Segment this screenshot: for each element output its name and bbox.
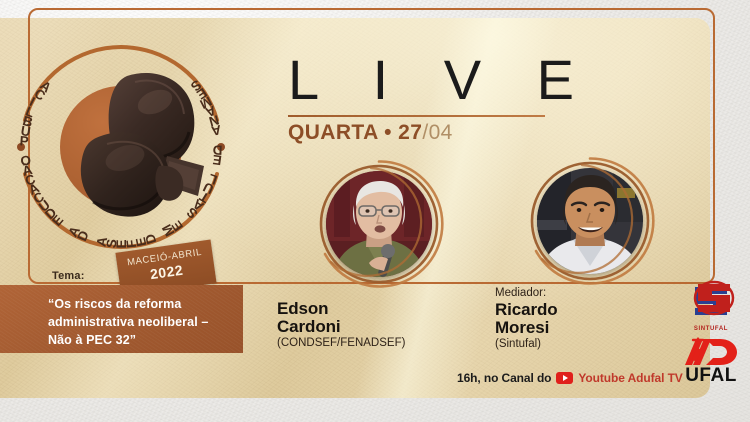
title-divider — [288, 115, 545, 117]
speaker-caption-edson-cardoni: Edson Cardoni (CONDSEF/FENADSEF) — [277, 300, 405, 352]
youtube-icon[interactable] — [556, 372, 573, 384]
event-month: /04 — [422, 121, 452, 144]
photo-ring-decoration-icon — [313, 158, 445, 290]
speaker-first-name: Ricardo — [495, 301, 558, 319]
speaker-org: (Sintufal) — [495, 337, 558, 353]
logo-adufal: UFAL — [679, 337, 743, 387]
speaker-photo-ricardo-moresi — [524, 155, 656, 287]
event-day: 27 — [398, 121, 422, 144]
speaker-last-name: Moresi — [495, 319, 558, 337]
speaker-first-name: Edson — [277, 300, 405, 318]
speaker-role: Mediador: — [495, 287, 558, 301]
page-title: L I V E — [288, 52, 594, 108]
theme-label: Tema: — [52, 270, 85, 282]
theme-text: “Os riscos da reforma administrativa neo… — [48, 295, 233, 349]
broadcast-info: 16h, no Canal do Youtube Adufal TV — [457, 371, 683, 385]
sintufal-wordmark: SINTUFAL — [684, 326, 738, 332]
event-seal: MACEIÓ-ABRIL 2022 SEMANA DE LUTAS EM DEF… — [8, 34, 234, 260]
photo-ring-decoration-icon — [524, 155, 656, 287]
adufal-monogram-icon — [679, 337, 743, 367]
sintufal-mark-icon — [684, 279, 738, 323]
speaker-org: (CONDSEF/FENADSEF) — [277, 336, 405, 352]
speaker-caption-ricardo-moresi: Mediador: Ricardo Moresi (Sintufal) — [495, 287, 558, 352]
poster-canvas: MACEIÓ-ABRIL 2022 SEMANA DE LUTAS EM DEF… — [0, 0, 750, 422]
adufal-wordmark: UFAL — [679, 365, 743, 387]
speaker-last-name: Cardoni — [277, 318, 405, 336]
channel-name[interactable]: Youtube Adufal TV — [578, 371, 682, 385]
event-date: QUARTA • 27/04 — [288, 121, 453, 145]
seal-curved-text: SEMANA DE LUTAS EM DEFESA DA EDUCAÇÃO PÚ… — [8, 34, 234, 260]
date-separator: • — [384, 121, 392, 144]
theme-box: “Os riscos da reforma administrativa neo… — [0, 285, 243, 353]
broadcast-time-text: 16h, no Canal do — [457, 371, 551, 385]
speaker-photo-edson-cardoni — [313, 158, 445, 290]
event-weekday: QUARTA — [288, 121, 378, 144]
logo-sintufal: SINTUFAL — [684, 279, 738, 331]
